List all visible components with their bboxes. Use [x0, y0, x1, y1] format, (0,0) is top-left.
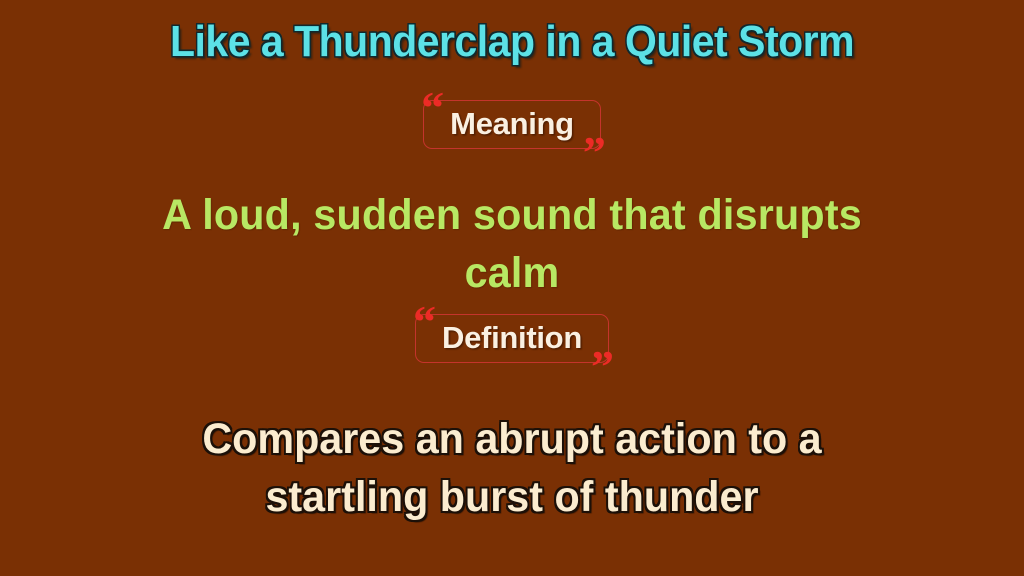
open-quote-icon: “: [421, 85, 442, 131]
meaning-body-text: A loud, sudden sound that disrupts calm: [80, 186, 944, 302]
slide-canvas: Like a Thunderclap in a Quiet Storm “ Me…: [0, 0, 1024, 576]
close-quote-icon: ”: [583, 130, 604, 176]
close-quote-icon: ”: [591, 344, 612, 390]
meaning-body-line-1: A loud, sudden sound that disrupts: [80, 186, 944, 244]
definition-body-text: Compares an abrupt action to a startling…: [80, 410, 944, 526]
meaning-badge-label: Meaning: [424, 101, 600, 148]
definition-badge-label: Definition: [416, 315, 608, 362]
definition-body-line-1: Compares an abrupt action to a: [80, 410, 944, 468]
open-quote-icon: “: [413, 299, 434, 345]
page-title: Like a Thunderclap in a Quiet Storm: [36, 18, 988, 66]
definition-body-line-2: startling burst of thunder: [80, 468, 944, 526]
definition-badge: “ Definition ”: [415, 314, 609, 363]
meaning-body-line-2: calm: [80, 244, 944, 302]
meaning-badge: “ Meaning ”: [423, 100, 601, 149]
meaning-badge-row: “ Meaning ”: [0, 100, 1024, 149]
definition-badge-row: “ Definition ”: [0, 314, 1024, 363]
